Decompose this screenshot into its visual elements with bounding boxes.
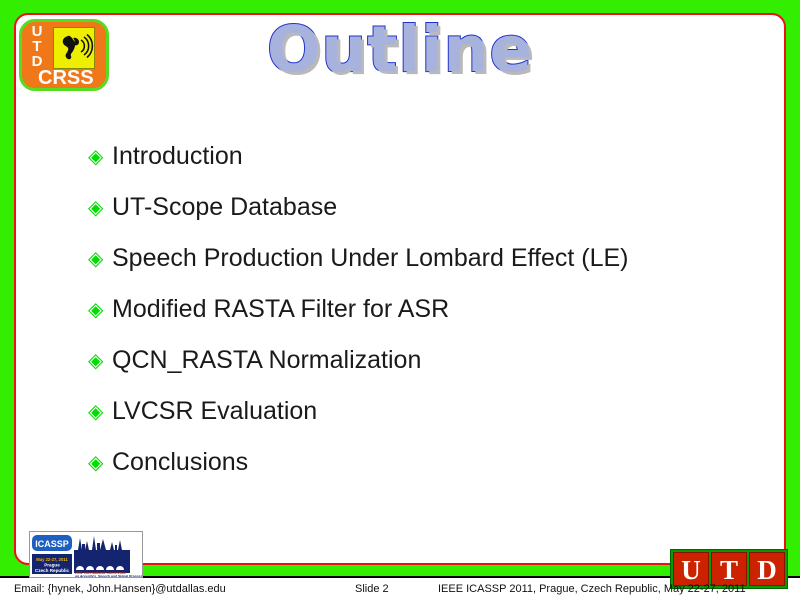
list-item-label: LVCSR Evaluation bbox=[112, 397, 317, 426]
svg-text:Czech Republic: Czech Republic bbox=[35, 568, 70, 573]
svg-text:on Acoustics, Speech and Signa: on Acoustics, Speech and Signal Processi… bbox=[75, 575, 142, 578]
footer-email-text: Email: {hynek, John.Hansen}@utdallas.edu bbox=[14, 582, 226, 596]
list-item-label: Conclusions bbox=[112, 448, 248, 477]
icassp-prague-logo-icon: ICASSP May 22-27, 2011 Prague Czech Repu… bbox=[30, 532, 142, 577]
footer-slide-number: Slide 2 bbox=[355, 582, 389, 596]
diamond-bullet-icon: ◈ bbox=[88, 351, 112, 371]
list-item-label: Speech Production Under Lombard Effect (… bbox=[112, 244, 629, 273]
svg-text:ICASSP: ICASSP bbox=[35, 539, 69, 549]
list-item-label: UT-Scope Database bbox=[112, 193, 337, 222]
diamond-bullet-icon: ◈ bbox=[88, 453, 112, 473]
list-item-label: Introduction bbox=[112, 142, 243, 171]
icassp-logo: ICASSP May 22-27, 2011 Prague Czech Repu… bbox=[29, 531, 143, 578]
list-item-label: Modified RASTA Filter for ASR bbox=[112, 295, 449, 324]
outline-list: ◈ Introduction ◈ UT-Scope Database ◈ Spe… bbox=[88, 131, 748, 488]
list-item[interactable]: ◈ QCN_RASTA Normalization bbox=[88, 335, 748, 386]
list-item[interactable]: ◈ Speech Production Under Lombard Effect… bbox=[88, 233, 748, 284]
list-item[interactable]: ◈ UT-Scope Database bbox=[88, 182, 748, 233]
page-title: Outline bbox=[0, 14, 800, 86]
list-item-label: QCN_RASTA Normalization bbox=[112, 346, 421, 375]
diamond-bullet-icon: ◈ bbox=[88, 300, 112, 320]
svg-text:May 22-27, 2011: May 22-27, 2011 bbox=[36, 557, 68, 562]
diamond-bullet-icon: ◈ bbox=[88, 249, 112, 269]
slide-footer: Email: {hynek, John.Hansen}@utdallas.edu… bbox=[0, 580, 800, 598]
diamond-bullet-icon: ◈ bbox=[88, 402, 112, 422]
diamond-bullet-icon: ◈ bbox=[88, 198, 112, 218]
list-item[interactable]: ◈ Conclusions bbox=[88, 437, 748, 488]
footer-conference-text: IEEE ICASSP 2011, Prague, Czech Republic… bbox=[438, 582, 746, 596]
list-item[interactable]: ◈ Introduction bbox=[88, 131, 748, 182]
slide: U T D CRSS Outline ◈ bbox=[0, 0, 800, 598]
svg-text:Prague: Prague bbox=[44, 563, 60, 568]
diamond-bullet-icon: ◈ bbox=[88, 147, 112, 167]
list-item[interactable]: ◈ Modified RASTA Filter for ASR bbox=[88, 284, 748, 335]
list-item[interactable]: ◈ LVCSR Evaluation bbox=[88, 386, 748, 437]
